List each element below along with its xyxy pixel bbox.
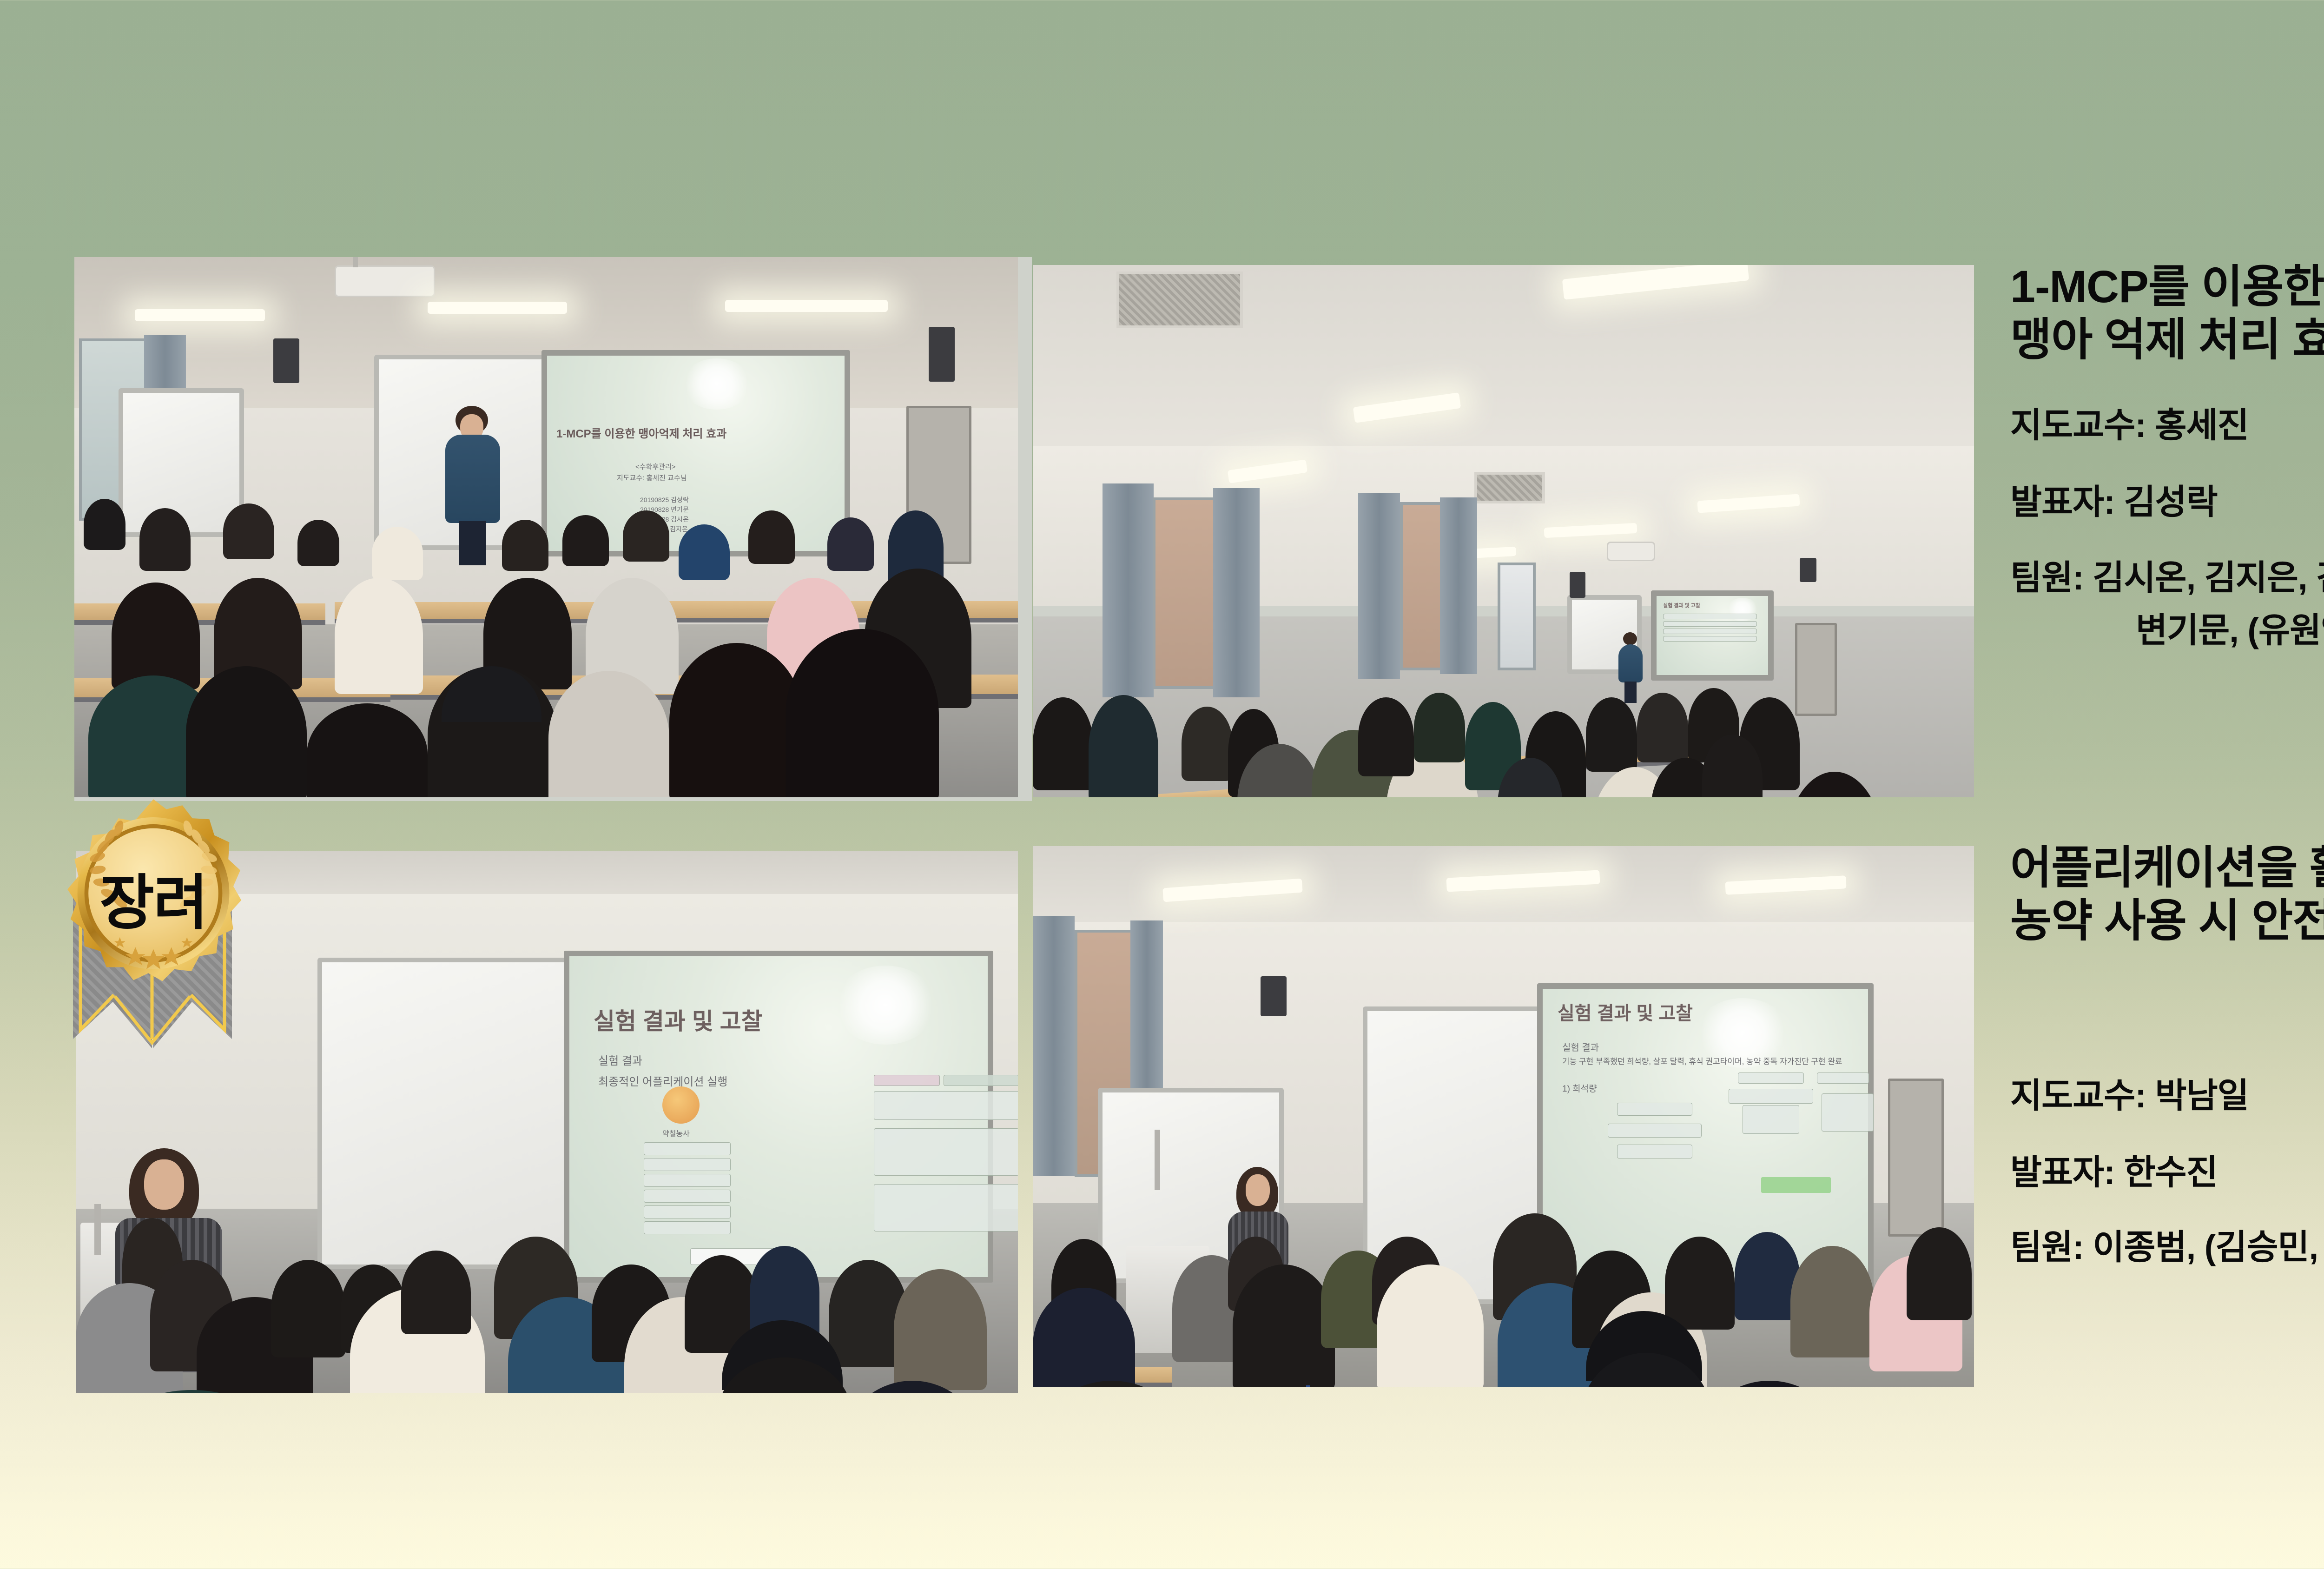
award-badge: 장려 <box>44 797 263 1058</box>
slide-subtitle-1: <수확후관리> <box>635 462 676 471</box>
entry-2-text-block: 어플리케이션을 활용한 농약 사용 시 안전 도우미 지도교수: 박남일 발표자… <box>2010 841 2324 1269</box>
slide-title-3: 실험 결과 및 고찰 <box>594 1003 763 1036</box>
entry-1-team-line-2: 변기문, (유원영) <box>2010 602 2324 652</box>
slide-title-4: 실험 결과 및 고찰 <box>1558 998 1693 1025</box>
entry-2-presenter: 발표자: 한수진 <box>2010 1145 2324 1194</box>
projector-icon <box>335 265 435 297</box>
entry-1-team-line-1: 팀원: 김시온, 김지은, 김한비, <box>2010 550 2324 600</box>
slide-bullet-3a: 실험 결과 <box>598 1052 642 1068</box>
entry-1-text-block: 1-MCP를 이용한 맹아 억제 처리 효과. 지도교수: 홍세진 발표자: 김… <box>2010 260 2324 652</box>
photo-1-frame: 1-MCP를 이용한 맹아억제 처리 효과 <수확후관리> 지도교수: 홍세진 … <box>74 257 1018 797</box>
entry-2-advisor: 지도교수: 박남일 <box>2010 1068 2324 1118</box>
entry-2-title: 어플리케이션을 활용한 농약 사용 시 안전 도우미 <box>2010 841 2324 948</box>
entry-1-presenter: 발표자: 김성락 <box>2010 474 2324 524</box>
slide-app-label: 약칠농사 <box>662 1127 690 1139</box>
slide-advisor-1: 지도교수: 홍세진 교수님 <box>617 473 687 483</box>
slide-title-1: 1-MCP를 이용한 맹아억제 처리 효과 <box>556 424 726 441</box>
entry-1-title: 1-MCP를 이용한 맹아 억제 처리 효과. <box>2010 260 2324 367</box>
slide-bullet-4c: 1) 희석량 <box>1562 1082 1597 1094</box>
projection-screen-3: 실험 결과 및 고찰 실험 결과 최종적인 어플리케이션 실행 약칠농사 <box>564 951 993 1283</box>
slide-bullet-4b: 기능 구현 부족했던 희석량, 살포 달력, 휴식 권고타이머, 농약 중독 자… <box>1562 1055 1842 1066</box>
presenter-figure <box>442 406 502 564</box>
slide-bullet-3b: 최종적인 어플리케이션 실행 <box>598 1072 727 1089</box>
entry-2-team-line-1: 팀원: 이종범, (김승민, 장민영) <box>2010 1219 2324 1269</box>
poster-canvas: 1-MCP를 이용한 맹아억제 처리 효과 <수확후관리> 지도교수: 홍세진 … <box>0 0 2324 1569</box>
photo-lecture-hall-wide-view: 실험 결과 및 고찰 <box>1033 265 1974 797</box>
award-badge-label: 장려 <box>53 797 253 1003</box>
slide-bullet-4a: 실험 결과 <box>1562 1040 1599 1053</box>
entry-1-advisor: 지도교수: 홍세진 <box>2010 397 2324 447</box>
photo-audience-rear-view: 실험 결과 및 고찰 실험 결과 기능 구현 부족했던 희석량, 살포 달력, … <box>1033 846 1974 1387</box>
projection-screen-2: 실험 결과 및 고찰 <box>1651 590 1774 681</box>
